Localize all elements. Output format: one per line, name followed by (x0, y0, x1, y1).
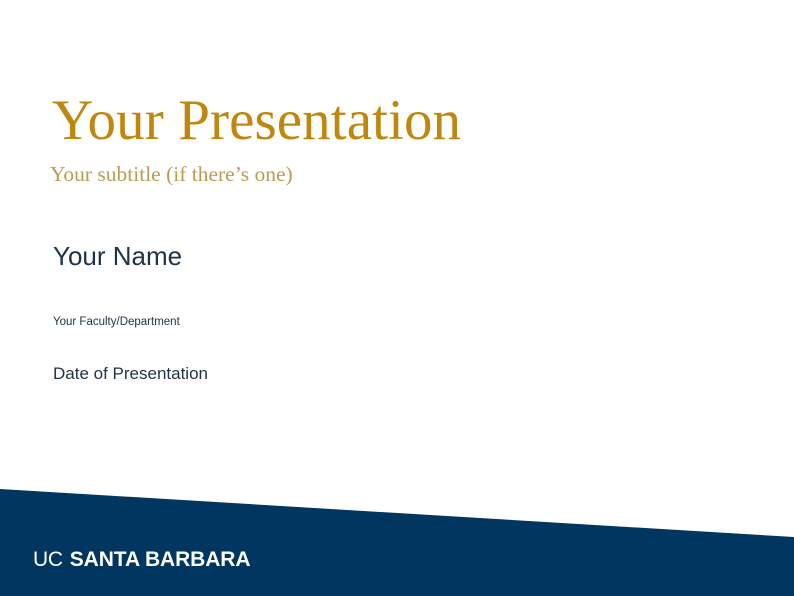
slide-subtitle: Your subtitle (if there’s one) (50, 162, 752, 188)
presenter-name: Your Name (53, 242, 653, 272)
presenter-block: Your Name Your Faculty/Department Date o… (53, 242, 653, 384)
ucsb-logo-uc-text: UC (33, 549, 63, 570)
ucsb-logo: UC SANTA BARBARA (33, 549, 250, 570)
ucsb-logo-campus-text: SANTA BARBARA (70, 549, 251, 570)
presentation-title-slide: Your Presentation Your subtitle (if ther… (0, 0, 794, 596)
page-title: Your Presentation (52, 92, 752, 150)
presentation-date: Date of Presentation (53, 364, 653, 384)
title-block: Your Presentation Your subtitle (if ther… (52, 92, 752, 188)
presenter-department: Your Faculty/Department (53, 316, 653, 330)
